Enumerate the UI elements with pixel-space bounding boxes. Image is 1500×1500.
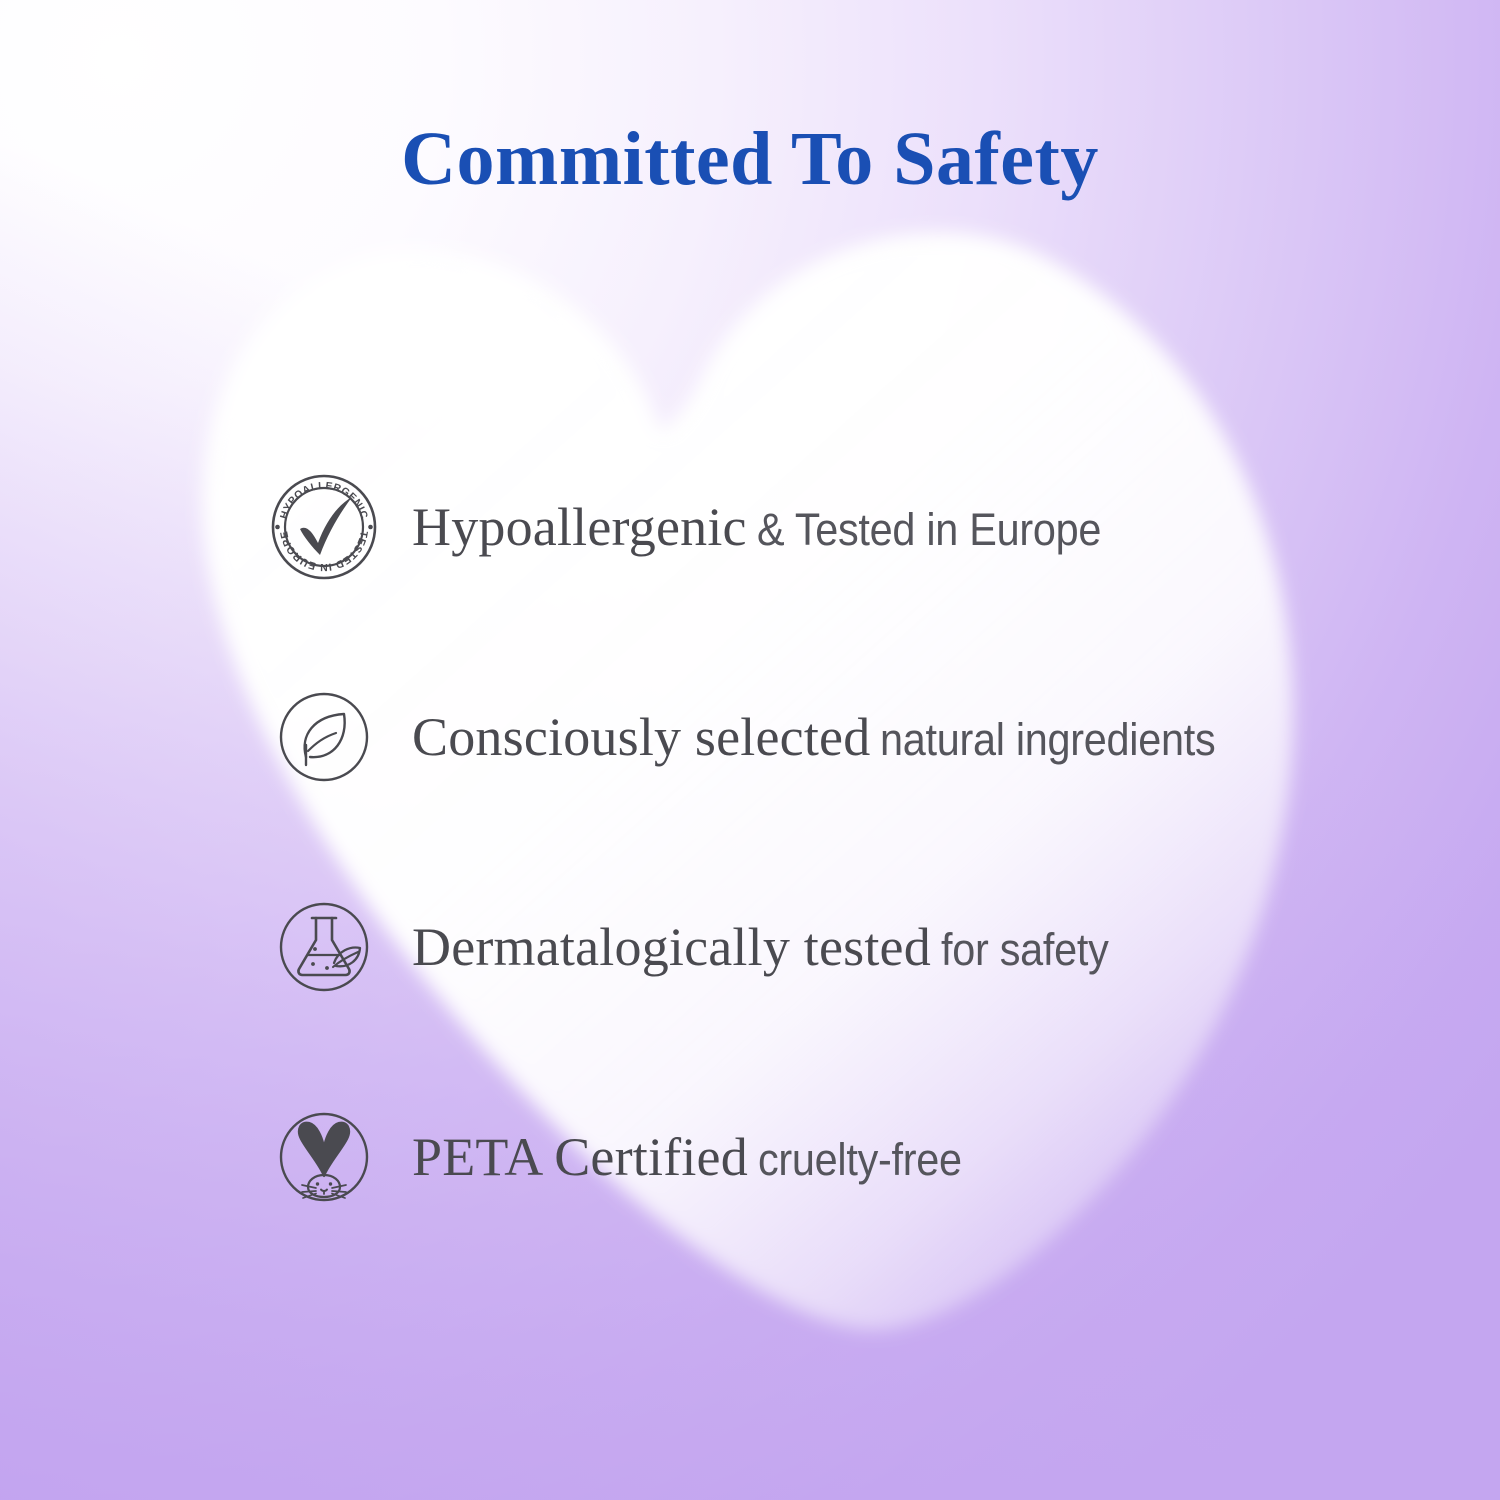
leaf-icon [268,681,380,793]
page-title: Committed To Safety [0,118,1500,202]
feature-item-dermatologically-tested: Dermatalogically testedfor safety [268,882,1348,1012]
feature-label-natural-ingredients: Consciously selectednatural ingredients [412,710,1245,764]
feature-item-natural-ingredients: Consciously selectednatural ingredients [268,672,1348,802]
hypoallergenic-stamp-icon: HYPOALLERGENIC TESTED IN EUROPE [268,471,380,583]
feature-label-hypoallergenic: Hypoallergenic& Tested in Europe [412,500,1131,554]
feature-strong-text: Consciously selected [412,707,870,767]
peta-bunny-heart-icon [268,1101,380,1213]
feature-item-peta-certified: PETA Certifiedcruelty-free [268,1092,1348,1222]
flask-leaf-icon [268,891,380,1003]
feature-label-peta-certified: PETA Certifiedcruelty-free [412,1130,979,1184]
feature-list: HYPOALLERGENIC TESTED IN EUROPE Hypoalle… [268,462,1348,1222]
feature-label-dermatologically-tested: Dermatalogically testedfor safety [412,920,1123,974]
poster-canvas: Committed To Safety HYPOALLERGENIC [0,0,1500,1500]
feature-rest-text: & Tested in Europe [757,507,1101,552]
checkmark-icon [300,497,352,555]
bunny-ears-heart-icon [299,1123,349,1176]
feature-rest-text: cruelty-free [758,1137,962,1182]
feature-strong-text: Hypoallergenic [412,497,747,557]
feature-strong-text: Dermatalogically tested [412,917,931,977]
feature-rest-text: natural ingredients [880,717,1215,762]
feature-strong-text: PETA Certified [412,1127,748,1187]
feature-rest-text: for safety [941,927,1109,972]
feature-item-hypoallergenic: HYPOALLERGENIC TESTED IN EUROPE Hypoalle… [268,462,1348,592]
